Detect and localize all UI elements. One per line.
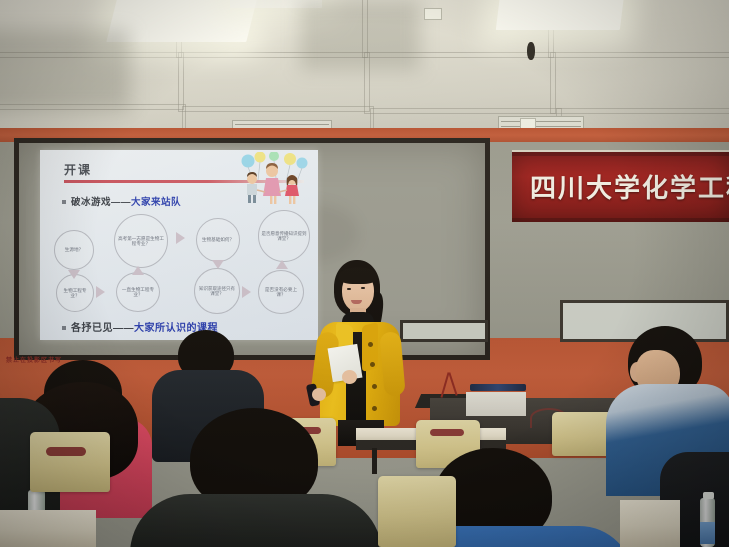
ceiling-sensor-icon: [527, 42, 535, 60]
flow-arrow-down-1: [68, 270, 80, 279]
wall-notice-sign: 禁止在投影区书写: [6, 349, 72, 358]
flow-node-6: 一直生物工程专业？: [116, 272, 160, 312]
flow-node-2: 高考第一志愿是生物工程专业？: [114, 214, 168, 268]
student-desk: [620, 500, 680, 547]
bullet-square-icon: [62, 200, 66, 204]
wall-notice-text: 禁止在投影区书写: [6, 358, 62, 364]
podium-top-surface: [466, 392, 526, 416]
classroom-chair: [378, 476, 456, 547]
event-banner: 四川大学化学工程学院“探究: [512, 150, 729, 222]
classroom-chair: [30, 432, 110, 492]
flow-arrow-right-3: [242, 286, 251, 298]
bullet-square-icon: [62, 326, 66, 330]
flow-arrow-up-1: [132, 266, 144, 275]
flow-node-4: 是否愿意传播知识提到课堂？: [258, 210, 310, 262]
slide-bullet-1-blue: 大家来站队: [131, 197, 181, 208]
flow-arrow-down-2: [212, 260, 224, 269]
slide-title: 开课: [64, 161, 92, 178]
student-black-jacket-center: [130, 408, 380, 547]
slide-bullet-2-dark: 各抒已见——: [71, 323, 134, 334]
flow-node-1: 生源地？: [54, 230, 94, 270]
flow-node-3: 生物基础如何？: [196, 218, 240, 262]
flow-arrow-right-2: [96, 286, 105, 298]
children-with-balloons-clipart: [230, 152, 314, 206]
slide-bullet-1: 破冰游戏——大家来站队: [62, 194, 181, 208]
flow-node-8: 是否没有必要上课？: [258, 270, 304, 314]
bottle-cap: [703, 492, 714, 499]
ceiling-light-panel: [496, 0, 624, 30]
whiteboard-panel: [400, 320, 488, 342]
student-torso: [130, 494, 382, 547]
ceiling-speaker-grille: [424, 8, 442, 20]
classroom-photo-scene: 开课: [0, 0, 729, 547]
slide-bullet-1-dark: 破冰游戏——: [71, 197, 131, 208]
flow-arrow-up-2: [276, 260, 288, 269]
presenter-hand: [312, 388, 326, 401]
flow-node-5: 生物工程专业？: [56, 274, 94, 312]
slide-flowchart: 生源地？ 高考第一志愿是生物工程专业？ 生物基础如何？ 是否愿意传播知识提到课堂…: [52, 208, 318, 312]
podium-equipment: [470, 384, 526, 391]
flow-arrow-right-1: [176, 232, 185, 244]
event-banner-text: 四川大学化学工程学院“探究: [530, 168, 729, 205]
ceiling: [0, 0, 729, 132]
chair-handle-cutout: [46, 447, 86, 456]
chair-handle-cutout: [430, 429, 464, 436]
presentation-slide: 开课: [40, 150, 318, 340]
presenter-right-arm: [379, 331, 405, 397]
student-desk: [0, 510, 96, 547]
presenter-fringe: [339, 267, 377, 284]
bottle-label: [700, 522, 715, 544]
flow-node-7: 知识获取途径只有课堂？: [194, 268, 240, 314]
presenter-hand: [342, 370, 357, 384]
